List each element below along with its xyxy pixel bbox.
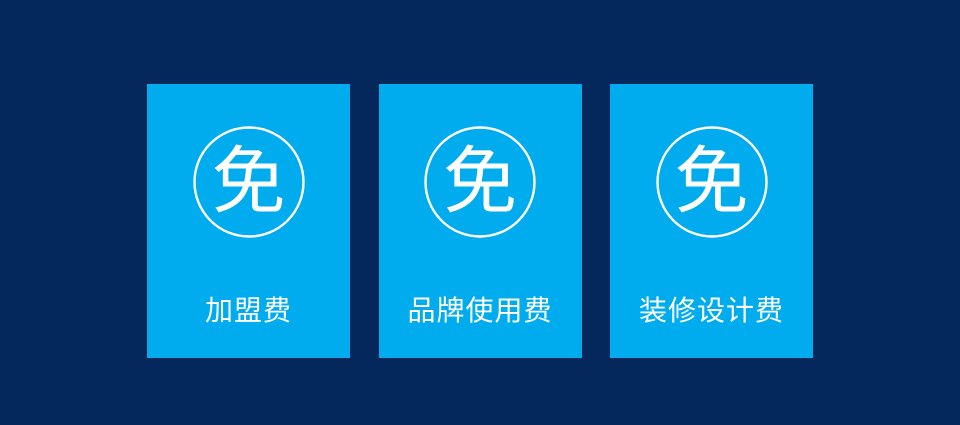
benefit-card-brand-usage-fee[interactable]: 免 品牌使用费 <box>379 84 582 358</box>
free-character: 免 <box>424 126 536 238</box>
benefit-cards-row: 免 加盟费 免 品牌使用费 免 装修设计费 <box>147 84 813 358</box>
benefit-card-label: 装修设计费 <box>639 296 784 326</box>
free-circle-icon: 免 <box>656 126 768 238</box>
free-character: 免 <box>656 126 768 238</box>
free-character: 免 <box>193 126 305 238</box>
benefit-card-decoration-design-fee[interactable]: 免 装修设计费 <box>610 84 813 358</box>
free-circle-icon: 免 <box>193 126 305 238</box>
benefit-card-label: 品牌使用费 <box>407 296 552 326</box>
free-circle-icon: 免 <box>424 126 536 238</box>
promo-banner: 免 加盟费 免 品牌使用费 免 装修设计费 <box>0 0 960 425</box>
benefit-card-joining-fee[interactable]: 免 加盟费 <box>147 84 350 358</box>
benefit-card-label: 加盟费 <box>205 296 292 326</box>
